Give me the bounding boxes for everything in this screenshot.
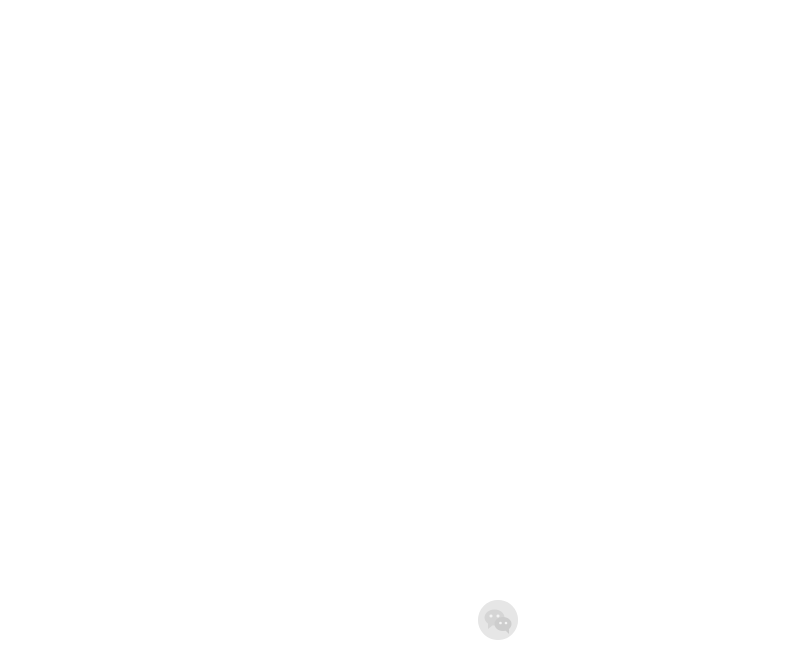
wechat-icon: [478, 600, 518, 640]
donut-svg: [170, 180, 630, 640]
watermark: [478, 600, 529, 640]
nested-donut-chart: [170, 180, 630, 640]
